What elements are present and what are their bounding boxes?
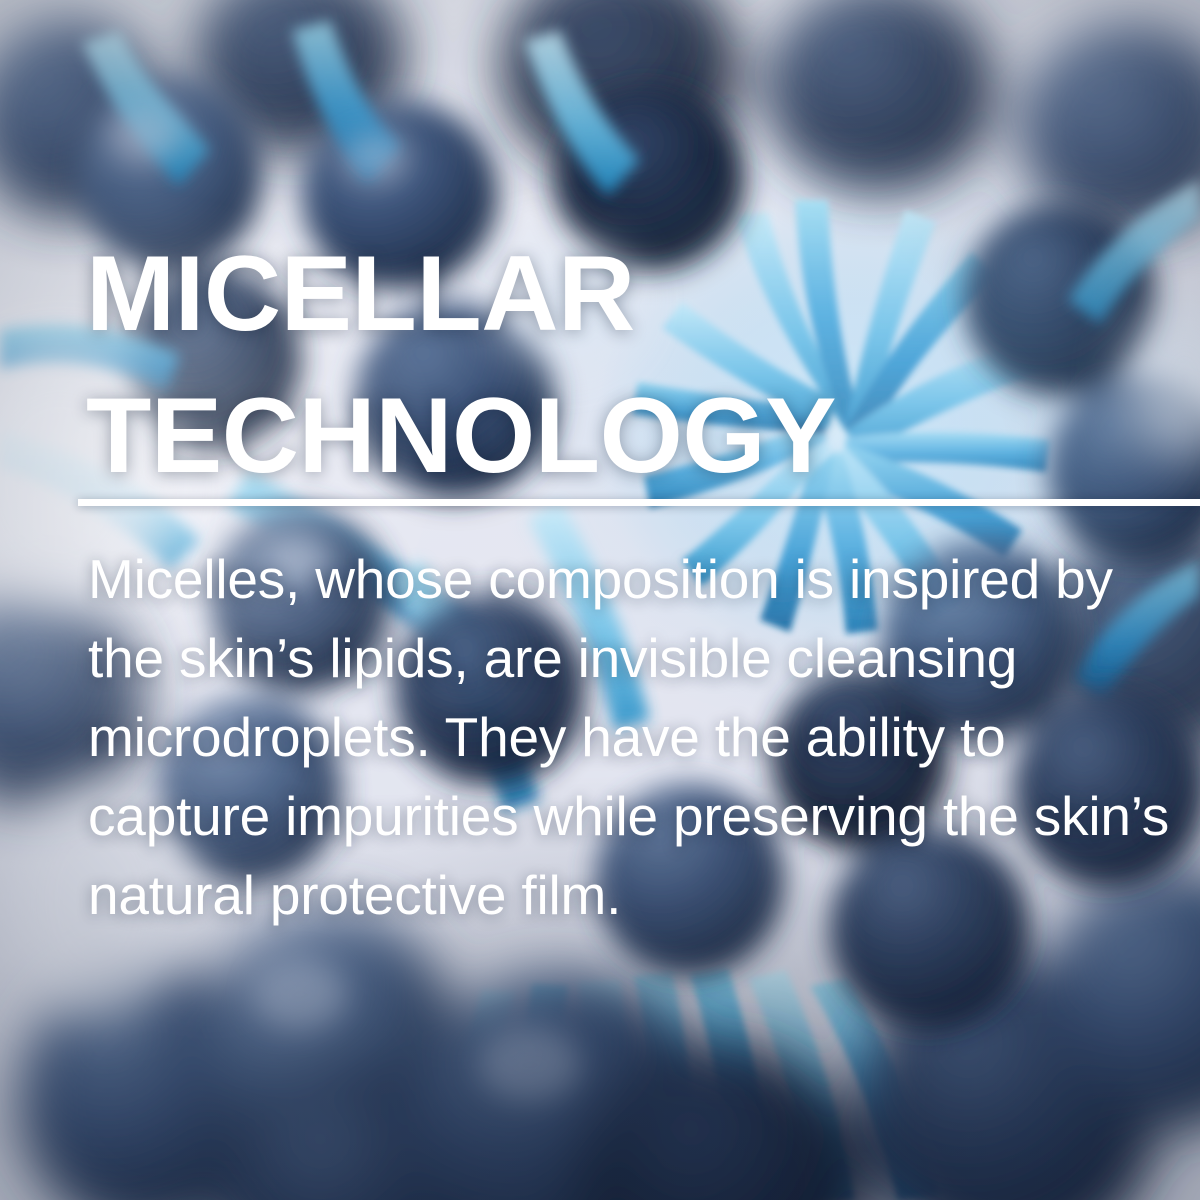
body-description-text: Micelles, whose composition is inspired … <box>88 540 1178 935</box>
micellar-technology-poster: MICELLAR TECHNOLOGY Micelles, whose comp… <box>0 0 1200 1200</box>
poster-content: MICELLAR TECHNOLOGY Micelles, whose comp… <box>0 0 1200 1200</box>
title-divider-rule <box>78 499 1200 506</box>
page-title: MICELLAR TECHNOLOGY <box>86 222 1146 506</box>
